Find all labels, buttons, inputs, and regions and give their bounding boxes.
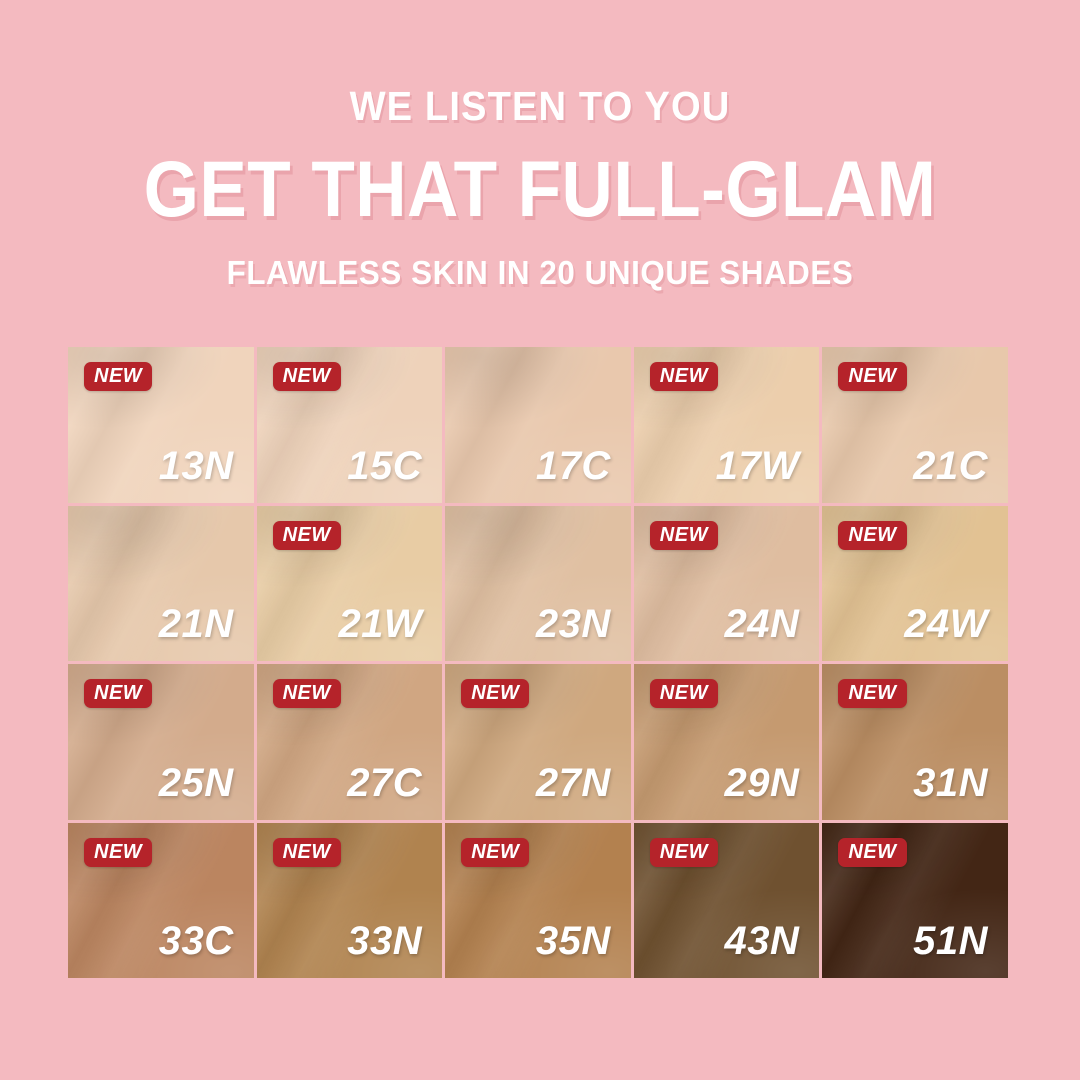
shade-name-label: 27C xyxy=(347,763,422,803)
shade-swatch[interactable]: NEW21C xyxy=(822,347,1008,503)
new-badge: NEW xyxy=(84,838,152,867)
shade-name-label: 21C xyxy=(913,446,988,486)
shade-swatch[interactable]: 23N xyxy=(445,506,631,662)
new-badge: NEW xyxy=(461,838,529,867)
page-title: GET THAT FULL-GLAM xyxy=(54,149,1026,228)
new-badge: NEW xyxy=(273,521,341,550)
subtitle-text: FLAWLESS SKIN IN 20 UNIQUE SHADES xyxy=(27,256,1053,289)
new-badge: NEW xyxy=(273,838,341,867)
shade-name-label: 21N xyxy=(159,604,234,644)
shade-swatch[interactable]: NEW33N xyxy=(257,823,443,979)
shade-swatch-grid: NEW13NNEW15C17CNEW17WNEW21C21NNEW21W23NN… xyxy=(68,347,1008,978)
new-badge: NEW xyxy=(650,362,718,391)
shade-swatch[interactable]: NEW17W xyxy=(634,347,820,503)
shade-swatch[interactable]: NEW15C xyxy=(257,347,443,503)
shade-swatch[interactable]: NEW24N xyxy=(634,506,820,662)
shade-name-label: 15C xyxy=(347,446,422,486)
shade-name-label: 13N xyxy=(159,446,234,486)
shade-name-label: 24N xyxy=(725,604,800,644)
shade-swatch[interactable]: NEW24W xyxy=(822,506,1008,662)
shade-name-label: 23N xyxy=(536,604,611,644)
new-badge: NEW xyxy=(838,838,906,867)
shade-range-promo-image: { "background_color": "#f4bac0", "header… xyxy=(0,0,1080,1080)
shade-swatch[interactable]: NEW51N xyxy=(822,823,1008,979)
shade-swatch[interactable]: NEW33C xyxy=(68,823,254,979)
new-badge: NEW xyxy=(273,362,341,391)
shade-name-label: 31N xyxy=(913,763,988,803)
new-badge: NEW xyxy=(273,679,341,708)
new-badge: NEW xyxy=(650,679,718,708)
shade-swatch[interactable]: NEW13N xyxy=(68,347,254,503)
shade-swatch[interactable]: 17C xyxy=(445,347,631,503)
new-badge: NEW xyxy=(84,679,152,708)
shade-name-label: 21W xyxy=(338,604,422,644)
new-badge: NEW xyxy=(461,679,529,708)
shade-swatch[interactable]: NEW21W xyxy=(257,506,443,662)
shade-swatch[interactable]: NEW27C xyxy=(257,664,443,820)
shade-swatch[interactable]: 21N xyxy=(68,506,254,662)
shade-name-label: 35N xyxy=(536,921,611,961)
shade-swatch[interactable]: NEW43N xyxy=(634,823,820,979)
new-badge: NEW xyxy=(84,362,152,391)
new-badge: NEW xyxy=(838,362,906,391)
shade-name-label: 27N xyxy=(536,763,611,803)
shade-name-label: 17C xyxy=(536,446,611,486)
new-badge: NEW xyxy=(650,838,718,867)
shade-name-label: 51N xyxy=(913,921,988,961)
new-badge: NEW xyxy=(838,679,906,708)
shade-swatch[interactable]: NEW27N xyxy=(445,664,631,820)
new-badge: NEW xyxy=(838,521,906,550)
promo-header: WE LISTEN TO YOU GET THAT FULL-GLAM FLAW… xyxy=(0,0,1080,289)
shade-swatch[interactable]: NEW31N xyxy=(822,664,1008,820)
shade-name-label: 33N xyxy=(347,921,422,961)
shade-name-label: 24W xyxy=(904,604,988,644)
shade-swatch[interactable]: NEW25N xyxy=(68,664,254,820)
eyebrow-text: WE LISTEN TO YOU xyxy=(38,86,1042,127)
shade-name-label: 25N xyxy=(159,763,234,803)
shade-name-label: 33C xyxy=(159,921,234,961)
shade-swatch[interactable]: NEW35N xyxy=(445,823,631,979)
new-badge: NEW xyxy=(650,521,718,550)
shade-name-label: 43N xyxy=(725,921,800,961)
shade-swatch[interactable]: NEW29N xyxy=(634,664,820,820)
shade-name-label: 17W xyxy=(716,446,800,486)
shade-name-label: 29N xyxy=(725,763,800,803)
